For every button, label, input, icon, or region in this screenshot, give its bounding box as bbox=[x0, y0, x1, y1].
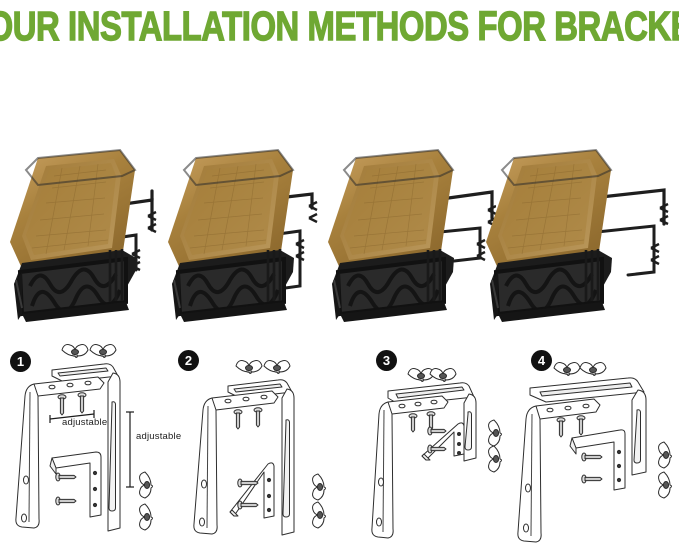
hex-bolt-icon bbox=[238, 501, 258, 509]
wing-nut-icon bbox=[554, 363, 580, 376]
vertical-slotted-arm bbox=[108, 373, 120, 531]
step-badge-3: 3 bbox=[376, 350, 397, 371]
step-badge-4: 4 bbox=[531, 350, 552, 371]
carriage-bolt-icon bbox=[577, 416, 585, 435]
carriage-bolt-icon bbox=[254, 408, 262, 427]
vertical-slotted-arm bbox=[632, 390, 646, 475]
vertical-slotted-arm bbox=[464, 394, 476, 461]
curved-wall-leg bbox=[194, 398, 217, 534]
carriage-bolt-icon bbox=[409, 414, 417, 432]
hex-bolt-icon bbox=[582, 453, 602, 461]
curved-wall-leg bbox=[372, 402, 393, 538]
wing-nut-icon bbox=[659, 472, 672, 498]
wing-nut-icon bbox=[90, 345, 116, 358]
inner-L-bracket bbox=[230, 463, 274, 518]
wing-nut-icon bbox=[489, 446, 502, 472]
wing-nut-icon bbox=[140, 472, 153, 498]
vertical-slotted-arm bbox=[282, 389, 294, 535]
adjustable-label-vertical: adjustable bbox=[136, 431, 181, 442]
wing-nut-icon bbox=[430, 369, 456, 382]
wing-nut-icon bbox=[659, 442, 672, 468]
hex-bolt-icon bbox=[56, 473, 76, 481]
wing-nut-icon bbox=[580, 363, 606, 376]
carriage-bolt-icon bbox=[58, 395, 66, 415]
adjustable-label-horizontal: adjustable bbox=[62, 417, 107, 428]
inner-L-bracket bbox=[50, 452, 101, 517]
planter-box-method-1 bbox=[2, 58, 178, 330]
infographic-page: FOUR INSTALLATION METHODS FOR BRACKET bbox=[0, 0, 679, 555]
carriage-bolt-icon bbox=[234, 410, 242, 429]
page-title-bar: FOUR INSTALLATION METHODS FOR BRACKET bbox=[0, 0, 679, 52]
slotted-top-plate bbox=[530, 378, 644, 402]
curved-wall-leg bbox=[16, 384, 39, 528]
hex-bolt-icon bbox=[582, 475, 602, 483]
wing-nut-icon bbox=[62, 345, 88, 358]
wing-nut-icon bbox=[313, 474, 326, 500]
wing-nut-icon bbox=[408, 369, 434, 382]
assembly-diagram-row bbox=[0, 332, 679, 555]
carriage-bolt-icon bbox=[78, 393, 86, 413]
planter-photo-row bbox=[0, 58, 679, 330]
planter-box-method-2 bbox=[160, 58, 336, 330]
wing-nut-icon bbox=[313, 502, 326, 528]
planter-box-method-3 bbox=[320, 58, 496, 330]
wing-nut-icon bbox=[264, 361, 290, 374]
hex-bolt-icon bbox=[428, 427, 446, 435]
vertical-dimension-arrow bbox=[126, 412, 134, 487]
planter-box-method-4 bbox=[478, 58, 654, 330]
wing-nut-icon bbox=[236, 361, 262, 374]
page-title: FOUR INSTALLATION METHODS FOR BRACKET bbox=[0, 4, 679, 48]
wing-nut-icon bbox=[140, 504, 153, 530]
step-badge-1: 1 bbox=[10, 351, 31, 372]
curved-wall-leg bbox=[518, 406, 541, 542]
step-badge-2: 2 bbox=[178, 350, 199, 371]
perforated-top-plate bbox=[532, 399, 600, 419]
carriage-bolt-icon bbox=[557, 418, 565, 437]
hex-bolt-icon bbox=[56, 497, 76, 505]
wing-nut-icon bbox=[489, 420, 502, 446]
